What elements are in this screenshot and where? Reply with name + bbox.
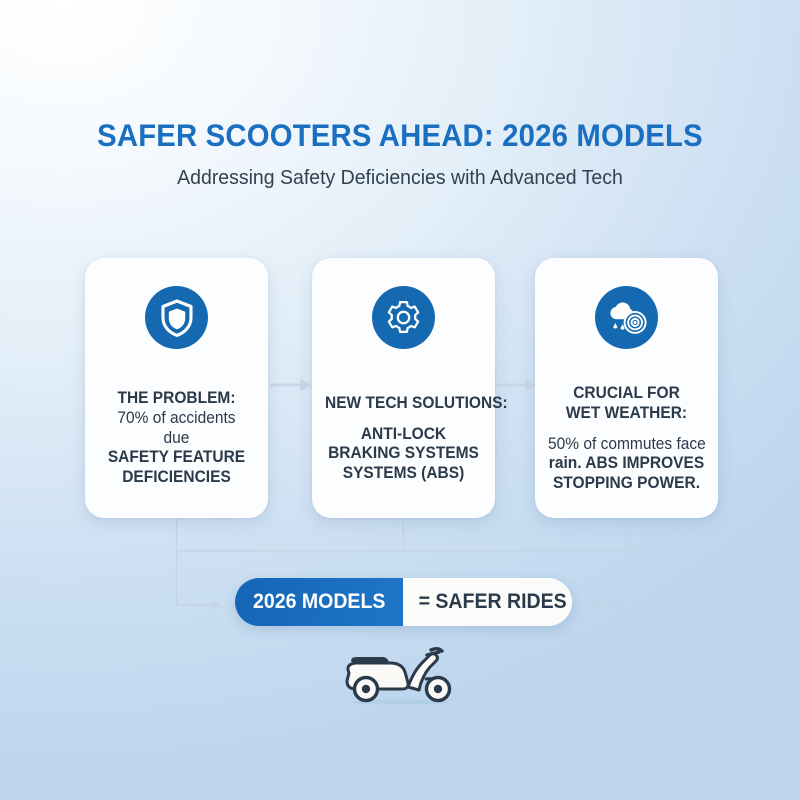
- card-line: BRAKING SYSTEMS: [325, 444, 482, 464]
- rain-wheel-icon: [606, 299, 648, 337]
- card-line: SYSTEMS (ABS): [325, 464, 482, 484]
- infographic-poster: SAFER SCOOTERS AHEAD: 2026 MODELS Addres…: [0, 0, 800, 800]
- icon-badge: [145, 286, 208, 349]
- header: SAFER SCOOTERS AHEAD: 2026 MODELS Addres…: [0, 118, 800, 190]
- card-line: SAFETY FEATURE: [98, 448, 255, 468]
- card-line: THE PROBLEM:: [98, 389, 255, 409]
- connector-arrow-right: [589, 601, 627, 610]
- card-text: NEW TECH SOLUTIONS: ANTI-LOCK BRAKING SY…: [312, 394, 495, 484]
- icon-badge: [595, 286, 658, 349]
- card-line: rain. ABS IMPROVES: [548, 454, 705, 474]
- page-subtitle: Addressing Safety Deficiencies with Adva…: [20, 166, 780, 190]
- card-line: 70% of accidents: [98, 409, 255, 429]
- info-card-problem[interactable]: THE PROBLEM: 70% of accidents due SAFETY…: [85, 258, 268, 518]
- step-arrow-icon-2: [496, 375, 540, 395]
- card-line: due: [98, 429, 255, 449]
- icon-badge: [372, 286, 435, 349]
- gear-icon: [385, 299, 422, 336]
- card-text: THE PROBLEM: 70% of accidents due SAFETY…: [85, 389, 268, 488]
- banner-left-label: 2026 MODELS: [253, 590, 385, 614]
- card-text: CRUCIAL FOR WET WEATHER: 50% of commutes…: [535, 384, 718, 494]
- card-line: DEFICIENCIES: [98, 468, 255, 488]
- scooter-illustration: [330, 641, 470, 707]
- connector-arrow-left: [177, 601, 221, 610]
- page-title: SAFER SCOOTERS AHEAD: 2026 MODELS: [28, 118, 772, 152]
- card-line: ANTI-LOCK: [325, 425, 482, 445]
- card-line: NEW TECH SOLUTIONS:: [325, 394, 482, 414]
- card-line: CRUCIAL FOR: [548, 384, 705, 404]
- step-arrow-icon-1: [270, 375, 314, 395]
- banner-right-label: = SAFER RIDES: [418, 590, 566, 614]
- info-card-solutions[interactable]: NEW TECH SOLUTIONS: ANTI-LOCK BRAKING SY…: [312, 258, 495, 518]
- info-card-wet-weather[interactable]: CRUCIAL FOR WET WEATHER: 50% of commutes…: [535, 258, 718, 518]
- card-line: 50% of commutes face: [548, 435, 705, 455]
- result-banner[interactable]: 2026 MODELS = SAFER RIDES: [235, 578, 572, 626]
- card-line: WET WEATHER:: [548, 404, 705, 424]
- card-line: STOPPING POWER.: [548, 474, 705, 494]
- banner-left-segment: 2026 MODELS: [235, 578, 403, 626]
- shield-icon: [160, 299, 194, 337]
- banner-right-segment: = SAFER RIDES: [403, 578, 572, 626]
